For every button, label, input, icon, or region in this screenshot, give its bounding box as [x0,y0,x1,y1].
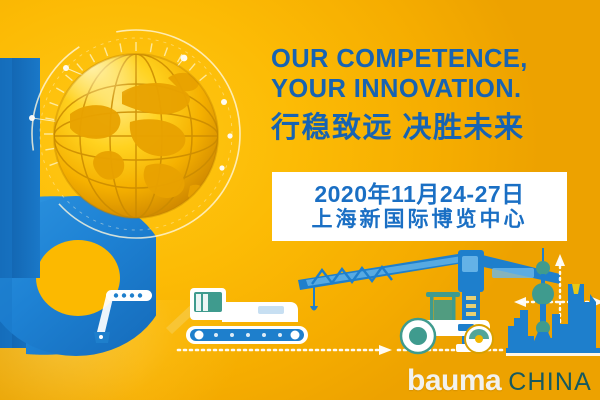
date-venue-banner: 2020年11月24-27日 上海新国际博览中心 [272,172,567,241]
headline-line-2: YOUR INNOVATION. [271,74,581,104]
globe-icon [18,18,248,248]
shanghai-skyline-icon [506,248,600,356]
headline-chinese: 行稳致远 决胜未来 [271,111,581,145]
bauma-china-logo: bauma CHINA [407,366,592,396]
logo-brand-text: bauma [407,366,501,396]
event-date: 2020年11月24-27日 [314,181,524,207]
bauma-china-poster: OUR COMPETENCE, YOUR INNOVATION. 行稳致远 决胜… [0,0,600,400]
headline-block: OUR COMPETENCE, YOUR INNOVATION. 行稳致远 决胜… [271,44,581,145]
event-venue: 上海新国际博览中心 [312,208,528,232]
road-roller-icon [401,292,493,353]
logo-region-text: CHINA [508,370,592,395]
machinery-scene-right [0,240,600,365]
headline-line-1: OUR COMPETENCE, [271,44,581,74]
